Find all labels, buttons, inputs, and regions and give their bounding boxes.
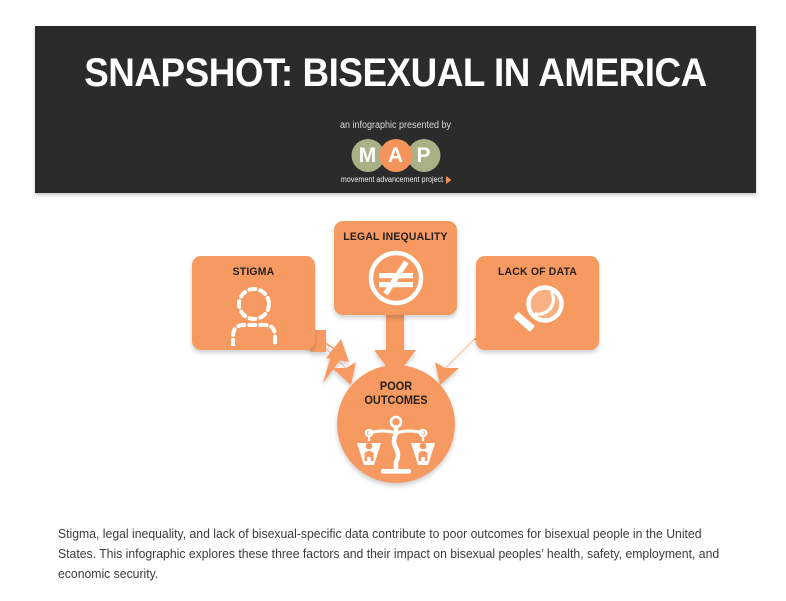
node-legal-inequality[interactable]: LEGAL INEQUALITY bbox=[334, 221, 457, 315]
map-logo-letter-a: A bbox=[379, 139, 412, 172]
infographic-page: SNAPSHOT: BISEXUAL IN AMERICA an infogra… bbox=[0, 0, 786, 601]
header-subtitle: an infographic presented by bbox=[71, 120, 720, 131]
map-logo-tagline-row: movement advancement project bbox=[340, 175, 451, 184]
person-dashed-icon bbox=[223, 284, 285, 351]
node-poor-outcomes-label-line2: OUTCOMES bbox=[340, 394, 452, 408]
node-poor-outcomes[interactable]: POOR OUTCOMES bbox=[337, 365, 455, 483]
node-stigma-label: STIGMA bbox=[195, 266, 312, 278]
map-logo: M A P movement advancement project bbox=[35, 139, 756, 191]
node-lack-of-data-label: LACK OF DATA bbox=[479, 266, 596, 278]
map-logo-tagline: movement advancement project bbox=[340, 175, 442, 184]
node-stigma[interactable]: STIGMA bbox=[192, 256, 315, 350]
play-triangle-icon bbox=[445, 176, 450, 184]
node-poor-outcomes-label: POOR OUTCOMES bbox=[340, 380, 452, 409]
node-lack-of-data[interactable]: LACK OF DATA bbox=[476, 256, 599, 350]
node-poor-outcomes-label-line1: POOR bbox=[340, 380, 452, 394]
node-legal-inequality-label: LEGAL INEQUALITY bbox=[337, 231, 454, 243]
map-logo-letters: M A P bbox=[351, 139, 440, 172]
page-title: SNAPSHOT: BISEXUAL IN AMERICA bbox=[64, 52, 727, 94]
magnifying-glass-icon bbox=[507, 283, 569, 348]
balance-scales-icon bbox=[357, 415, 435, 482]
header-band: SNAPSHOT: BISEXUAL IN AMERICA an infogra… bbox=[35, 26, 756, 193]
not-equal-circle-icon bbox=[367, 249, 425, 312]
body-paragraph: Stigma, legal inequality, and lack of bi… bbox=[58, 524, 727, 585]
